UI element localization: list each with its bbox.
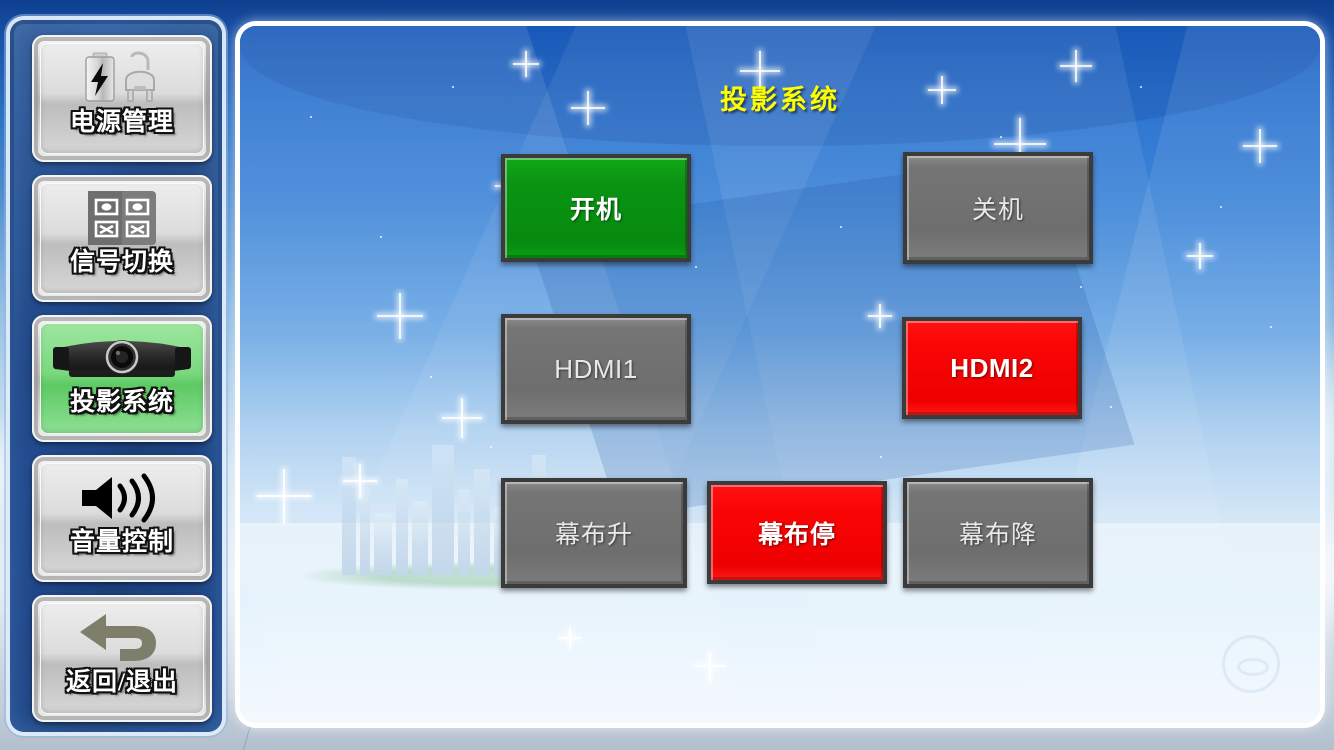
button-label: 开机 xyxy=(570,190,622,226)
button-label: 幕布降 xyxy=(959,515,1037,551)
sidebar-item-label: 音量控制 xyxy=(70,530,174,555)
screen-stop-button[interactable]: 幕布停 xyxy=(707,481,887,584)
button-label: 幕布停 xyxy=(758,515,836,551)
screen-down-button[interactable]: 幕布降 xyxy=(903,478,1093,588)
sidebar-item-back-exit[interactable]: 返回/退出 xyxy=(32,595,212,722)
sidebar-item-label: 电源管理 xyxy=(70,110,174,135)
sidebar-item-label: 返回/退出 xyxy=(66,670,178,695)
sidebar-item-label: 投影系统 xyxy=(70,390,174,415)
battery-power-icon xyxy=(76,47,168,109)
sidebar: 电源管理 xyxy=(10,20,222,732)
button-label: HDMI2 xyxy=(950,353,1033,384)
button-label: HDMI1 xyxy=(554,354,637,385)
hdmi2-button[interactable]: HDMI2 xyxy=(902,317,1082,419)
sidebar-item-signal-switch[interactable]: 信号切换 xyxy=(32,175,212,302)
power-on-button[interactable]: 开机 xyxy=(501,154,691,262)
projection-control-screen: 电源管理 xyxy=(0,0,1334,750)
speaker-volume-icon xyxy=(76,467,168,529)
button-label: 幕布升 xyxy=(555,515,633,551)
hdmi1-button[interactable]: HDMI1 xyxy=(501,314,691,424)
sidebar-item-label: 信号切换 xyxy=(70,250,174,275)
main-panel: 投影系统 xyxy=(240,26,1320,723)
sidebar-item-projection-system[interactable]: 投影系统 xyxy=(32,315,212,442)
watermark-logo xyxy=(1222,635,1280,693)
screen-up-button[interactable]: 幕布升 xyxy=(501,478,687,588)
page-title: 投影系统 xyxy=(240,78,1320,117)
back-arrow-icon xyxy=(76,607,168,669)
sidebar-item-volume-control[interactable]: 音量控制 xyxy=(32,455,212,582)
matrix-switch-icon xyxy=(82,187,162,249)
sidebar-item-power-management[interactable]: 电源管理 xyxy=(32,35,212,162)
button-label: 关机 xyxy=(972,190,1024,226)
power-off-button[interactable]: 关机 xyxy=(903,152,1093,264)
projector-icon xyxy=(47,327,197,389)
